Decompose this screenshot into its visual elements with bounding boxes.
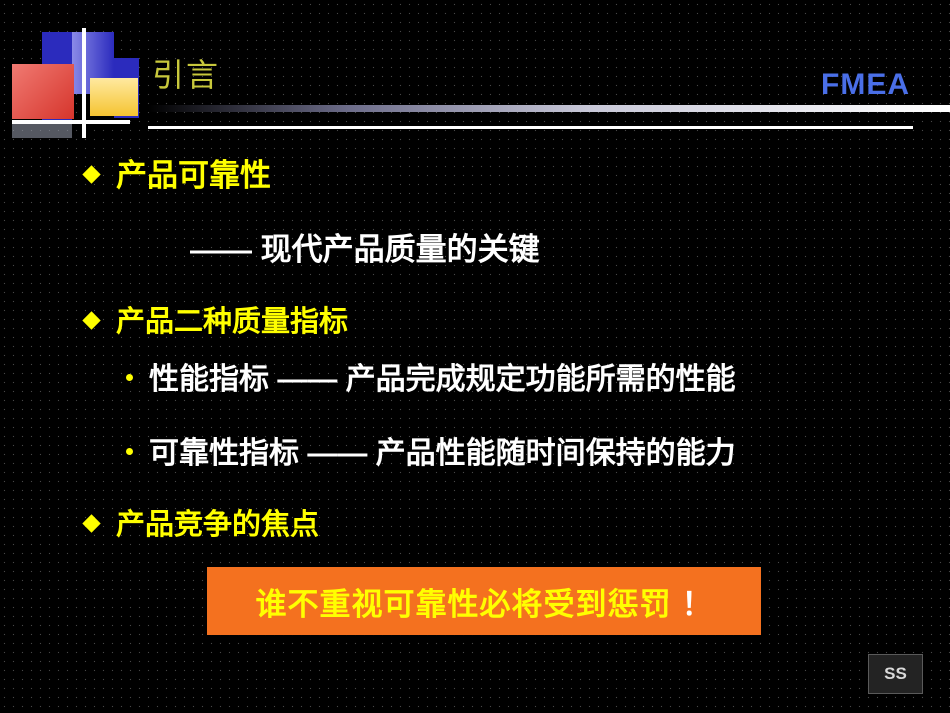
bullet-text: 产品竞争的焦点 [116,509,319,541]
logo-white-hline-icon [12,120,130,124]
bullet-text: 可靠性指标 —— 产品性能随时间保持的能力 [149,437,736,470]
diamond-bullet-icon [82,514,100,532]
dot-bullet-icon [126,374,133,381]
bullet-text: 性能指标 —— 产品完成规定功能所需的性能 [149,363,736,396]
decorative-logo [12,28,147,133]
bullet-two-quality-indicators: 产品二种质量指标 [85,298,348,340]
logo-yellow-square-icon [90,78,138,116]
bullet-modern-quality-key: —— 现代产品质量的关键 [190,224,540,269]
highlight-banner: 谁不重视可靠性必将受到惩罚 ！ [207,567,761,635]
bullet-reliability-indicator: 可靠性指标 —— 产品性能随时间保持的能力 [126,428,736,472]
dot-bullet-icon [126,448,133,455]
header-white-rule [148,126,913,129]
logo-red-square-icon [12,64,74,119]
bullet-text: —— 现代产品质量的关键 [190,232,540,267]
slide-title: 引言 [152,50,220,96]
bullet-competition-focus: 产品竞争的焦点 [85,501,319,543]
diamond-bullet-icon [82,166,100,184]
bullet-product-reliability: 产品可靠性 [85,150,271,195]
logo-gray-block-icon [12,124,72,138]
logo-white-vline-icon [82,28,86,138]
bullet-text: 产品可靠性 [116,158,271,193]
highlight-banner-text: 谁不重视可靠性必将受到惩罚 [256,579,672,624]
bullet-text: 产品二种质量指标 [116,306,348,338]
ss-badge: SS [868,654,923,694]
bullet-performance-indicator: 性能指标 —— 产品完成规定功能所需的性能 [126,354,736,398]
header-gradient-rule [148,105,950,112]
brand-label: FMEA [821,68,910,102]
highlight-banner-exclamation: ！ [682,579,713,624]
diamond-bullet-icon [82,311,100,329]
